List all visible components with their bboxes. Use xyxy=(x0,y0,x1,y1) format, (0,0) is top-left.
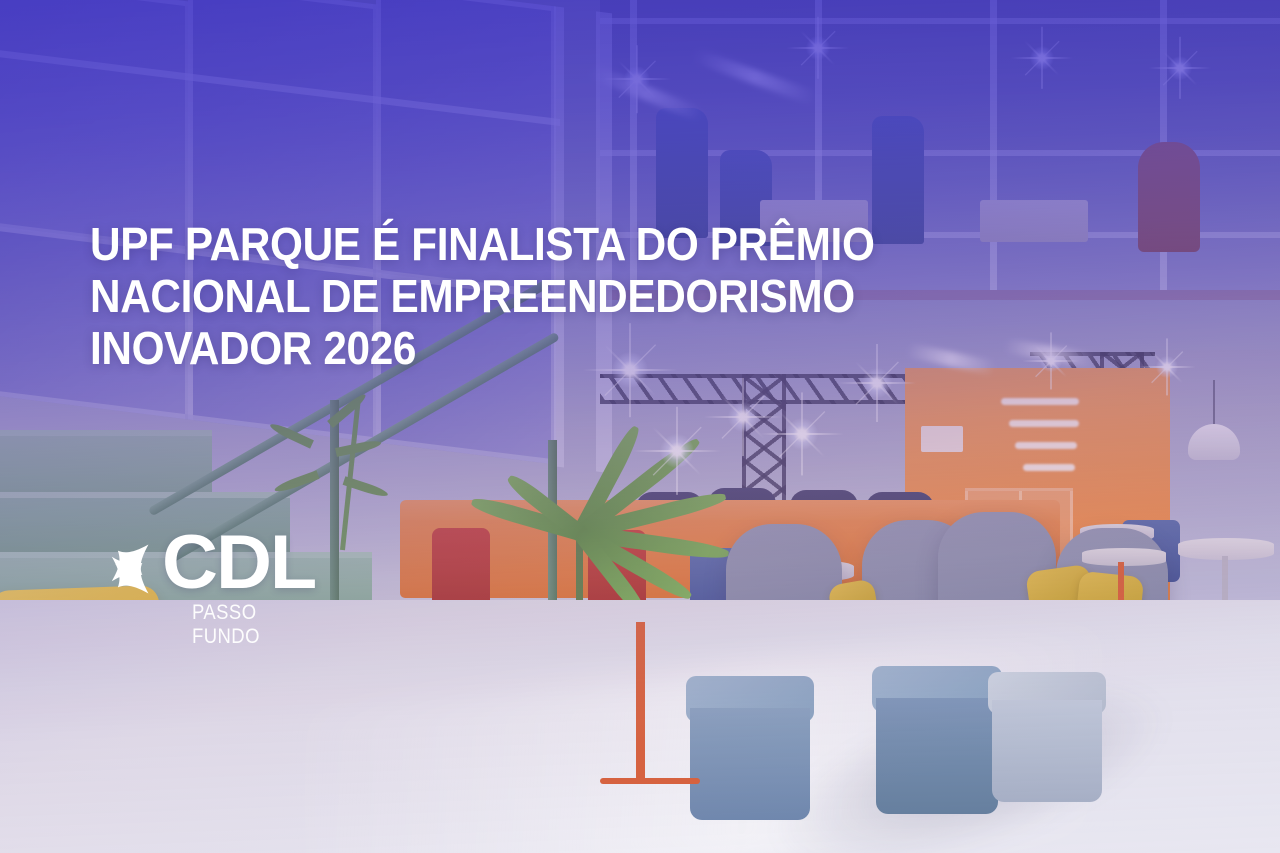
cdl-logo: CDL PASSO FUNDO xyxy=(88,531,298,639)
brand-gradient-overlay-tint xyxy=(0,0,1280,853)
page-title: UPF PARQUE É FINALISTA DO PRÊMIO NACIONA… xyxy=(90,218,973,374)
four-point-star-icon xyxy=(88,533,160,605)
cdl-wordmark: CDL xyxy=(162,525,315,601)
promo-banner: ZENITALSTUDIO xyxy=(0,0,1280,853)
cdl-subtitle: PASSO FUNDO xyxy=(192,601,285,649)
